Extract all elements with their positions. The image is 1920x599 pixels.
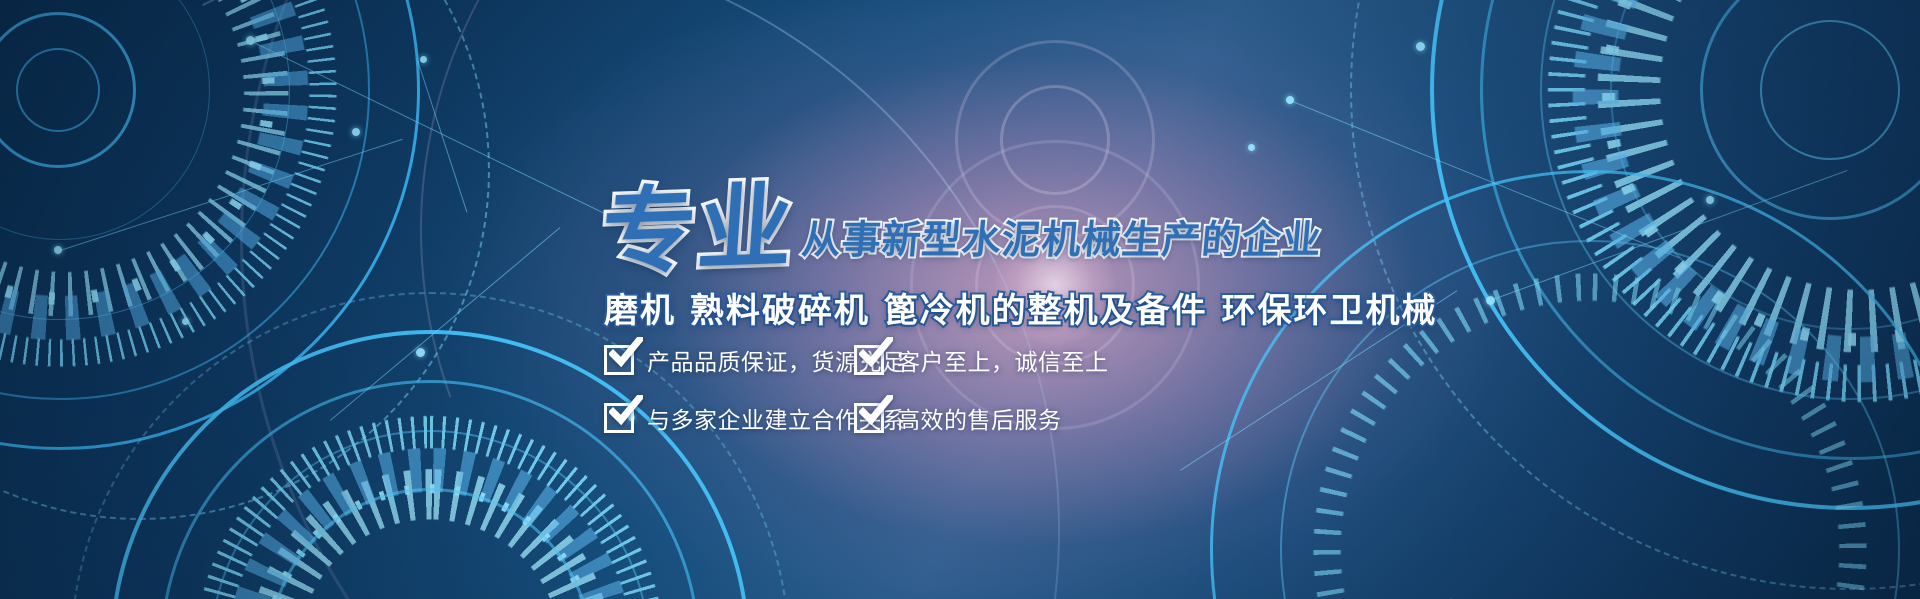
check-icon (854, 403, 884, 433)
feature-label: 客户至上，诚信至上 (897, 343, 1109, 377)
headline-row: 专业 从事新型水泥机械生产的企业 (602, 186, 1322, 275)
banner-content: 专业 从事新型水泥机械生产的企业 磨机 熟料破碎机 篦冷机的整机及备件 环保环卫… (0, 0, 1920, 599)
feature-item: 高效的售后服务 (854, 401, 1062, 435)
feature-item: 产品品质保证，货源充足 (604, 343, 854, 377)
feature-row: 产品品质保证，货源充足 客户至上，诚信至上 (604, 343, 1164, 377)
headline-subtitle: 从事新型水泥机械生产的企业 (800, 209, 1325, 265)
promo-banner: 专业 从事新型水泥机械生产的企业 磨机 熟料破碎机 篦冷机的整机及备件 环保环卫… (0, 0, 1920, 599)
feature-list: 产品品质保证，货源充足 客户至上，诚信至上 (604, 343, 1164, 459)
check-icon (604, 345, 634, 375)
headline-main-text: 专业 (598, 173, 798, 289)
check-icon (604, 403, 634, 433)
check-icon (854, 345, 884, 375)
feature-item: 与多家企业建立合作关系 (604, 401, 854, 435)
feature-row: 与多家企业建立合作关系 高效的售后服务 (604, 401, 1164, 435)
feature-label: 高效的售后服务 (897, 401, 1062, 435)
product-line: 磨机 熟料破碎机 篦冷机的整机及备件 环保环卫机械 (604, 283, 1438, 332)
headline-main: 专业 (599, 183, 798, 279)
feature-item: 客户至上，诚信至上 (854, 343, 1109, 377)
